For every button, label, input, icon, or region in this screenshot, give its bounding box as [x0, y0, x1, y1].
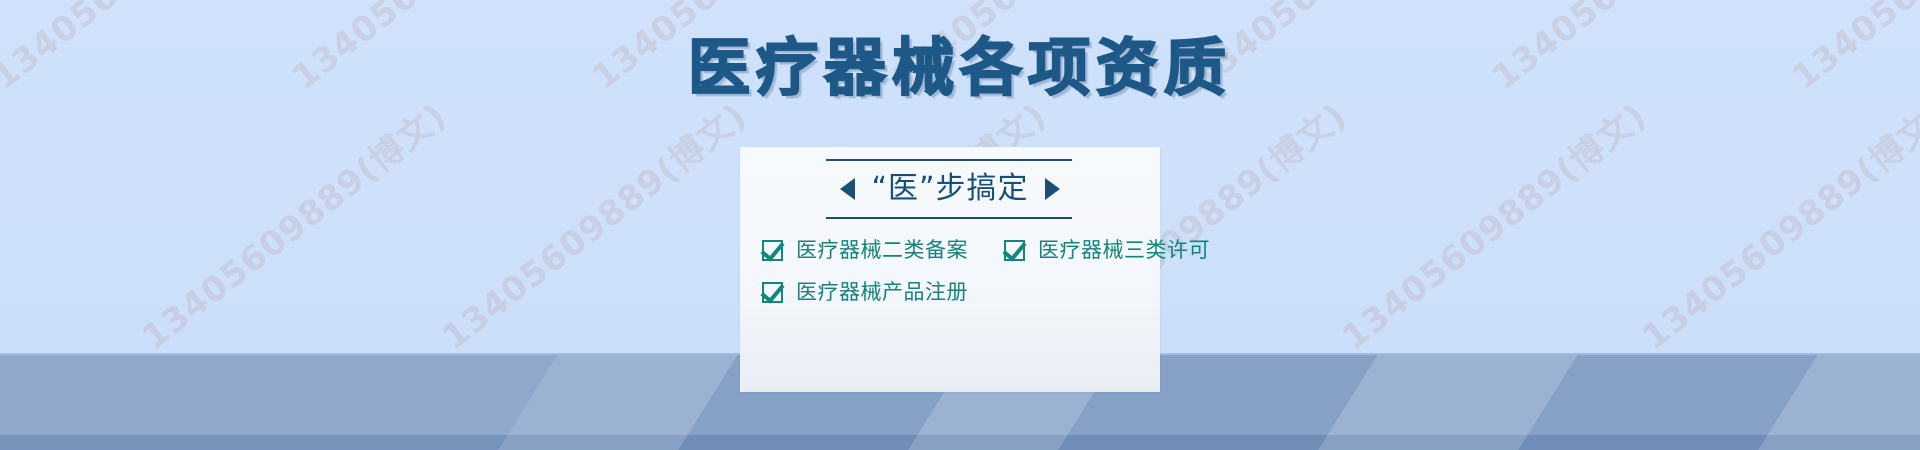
heading-rule-top [826, 159, 1072, 161]
checkbox-checked-icon[interactable] [762, 240, 783, 261]
list-item[interactable]: 医疗器械三类许可 [1004, 237, 1210, 263]
watermark-text: 13405609889(博文) [130, 90, 455, 359]
checkbox-checked-icon[interactable] [1004, 240, 1025, 261]
list-row: 医疗器械二类备案 医疗器械三类许可 [762, 237, 1138, 263]
page-title: 医疗器械各项资质 [688, 34, 1232, 102]
list-item-label: 医疗器械二类备案 [796, 237, 968, 263]
watermark-text: 13405609889(博文) [1330, 90, 1655, 359]
list-row: 医疗器械产品注册 [762, 279, 1138, 305]
watermark-text: 13405609889(博文) [1630, 90, 1920, 359]
list-item[interactable]: 医疗器械产品注册 [762, 279, 968, 305]
heading-rule-bottom [826, 217, 1072, 219]
background-band-low [0, 435, 1920, 450]
qualification-list: 医疗器械二类备案 医疗器械三类许可 医疗器械产品注册 [740, 237, 1160, 305]
list-item[interactable]: 医疗器械二类备案 [762, 237, 968, 263]
checkbox-checked-icon[interactable] [762, 282, 783, 303]
card-heading: “医”步搞定 [800, 147, 1100, 209]
content-card: “医”步搞定 医疗器械二类备案 医疗器械三类许可 医疗器械产品注册 [740, 147, 1160, 392]
left-triangle-icon [840, 178, 855, 200]
promo-banner: 13405609889(博文) 13405609889(博文) 13405609… [0, 0, 1920, 450]
card-heading-text: “医”步搞定 [871, 169, 1028, 209]
banner-title-wrap: 医疗器械各项资质 [0, 34, 1920, 102]
list-item-label: 医疗器械三类许可 [1038, 237, 1210, 263]
watermark-text: 13405609889(博文) [430, 90, 755, 359]
list-item-label: 医疗器械产品注册 [796, 279, 968, 305]
right-triangle-icon [1045, 178, 1060, 200]
